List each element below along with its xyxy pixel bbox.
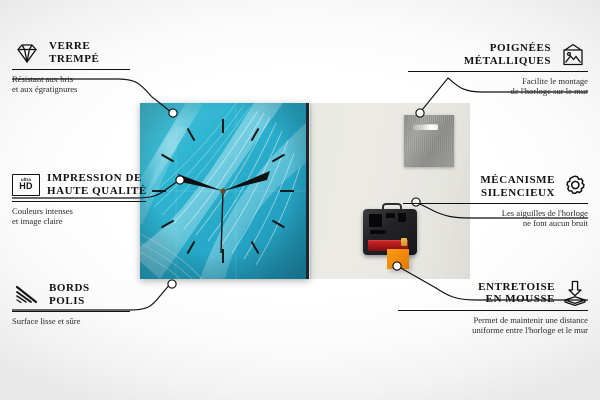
- diamond-icon: [12, 42, 42, 64]
- feature-title: POIGNÉES MÉTALLIQUES: [464, 42, 551, 67]
- product-infographic: VERRE TREMPÉ Résistant aux bris et aux é…: [0, 0, 600, 400]
- feature-title: IMPRESSION DE HAUTE QUALITÉ: [47, 172, 147, 197]
- feature-poignees-metalliques: POIGNÉES MÉTALLIQUES Facilite le montage…: [408, 42, 588, 96]
- feature-title: BORDS POLIS: [49, 282, 90, 307]
- feature-entretoise-en-mousse: ENTRETOISE EN MOUSSE Permet de maintenir…: [398, 280, 588, 335]
- feature-header: MÉCANISME SILENCIEUX: [403, 174, 588, 199]
- movement-port-d: [370, 230, 386, 234]
- ultra-hd-icon: ultra HD: [12, 174, 40, 196]
- feature-bords-polis: BORDS POLIS Surface lisse et sûre: [12, 282, 172, 326]
- gear-icon: [562, 174, 588, 199]
- movement-port-b: [386, 213, 395, 218]
- divider: [398, 310, 588, 311]
- feature-impression-haute-qualite: ultra HD IMPRESSION DE HAUTE QUALITÉ Cou…: [12, 172, 182, 226]
- feature-header: POIGNÉES MÉTALLIQUES: [408, 42, 588, 67]
- feature-title: ENTRETOISE EN MOUSSE: [478, 281, 555, 306]
- feature-header: BORDS POLIS: [12, 282, 172, 307]
- hanger-slot: [413, 124, 438, 130]
- divider: [12, 201, 146, 202]
- clock-hands: [178, 171, 270, 253]
- battery-terminal: [401, 238, 407, 246]
- feature-verre-trempe: VERRE TREMPÉ Résistant aux bris et aux é…: [12, 40, 172, 94]
- divider: [12, 311, 130, 312]
- divider: [408, 71, 588, 72]
- movement-port-a: [369, 214, 382, 227]
- feature-header: ENTRETOISE EN MOUSSE: [398, 280, 588, 306]
- feature-header: VERRE TREMPÉ: [12, 40, 172, 65]
- polished-edge-icon: [12, 285, 42, 305]
- divider: [12, 69, 130, 70]
- feature-title: MÉCANISME SILENCIEUX: [480, 174, 555, 199]
- feature-title: VERRE TREMPÉ: [49, 40, 99, 65]
- foam-spacer-arrow-icon: [562, 280, 588, 306]
- divider: [403, 203, 588, 204]
- foam-spacer: [387, 249, 409, 269]
- feature-mecanisme-silencieux: MÉCANISME SILENCIEUX Les aiguilles de l'…: [403, 174, 588, 228]
- picture-frame-hanger-icon: [558, 43, 588, 67]
- feature-header: ultra HD IMPRESSION DE HAUTE QUALITÉ: [12, 172, 182, 197]
- metal-hanger-plate: [404, 115, 454, 167]
